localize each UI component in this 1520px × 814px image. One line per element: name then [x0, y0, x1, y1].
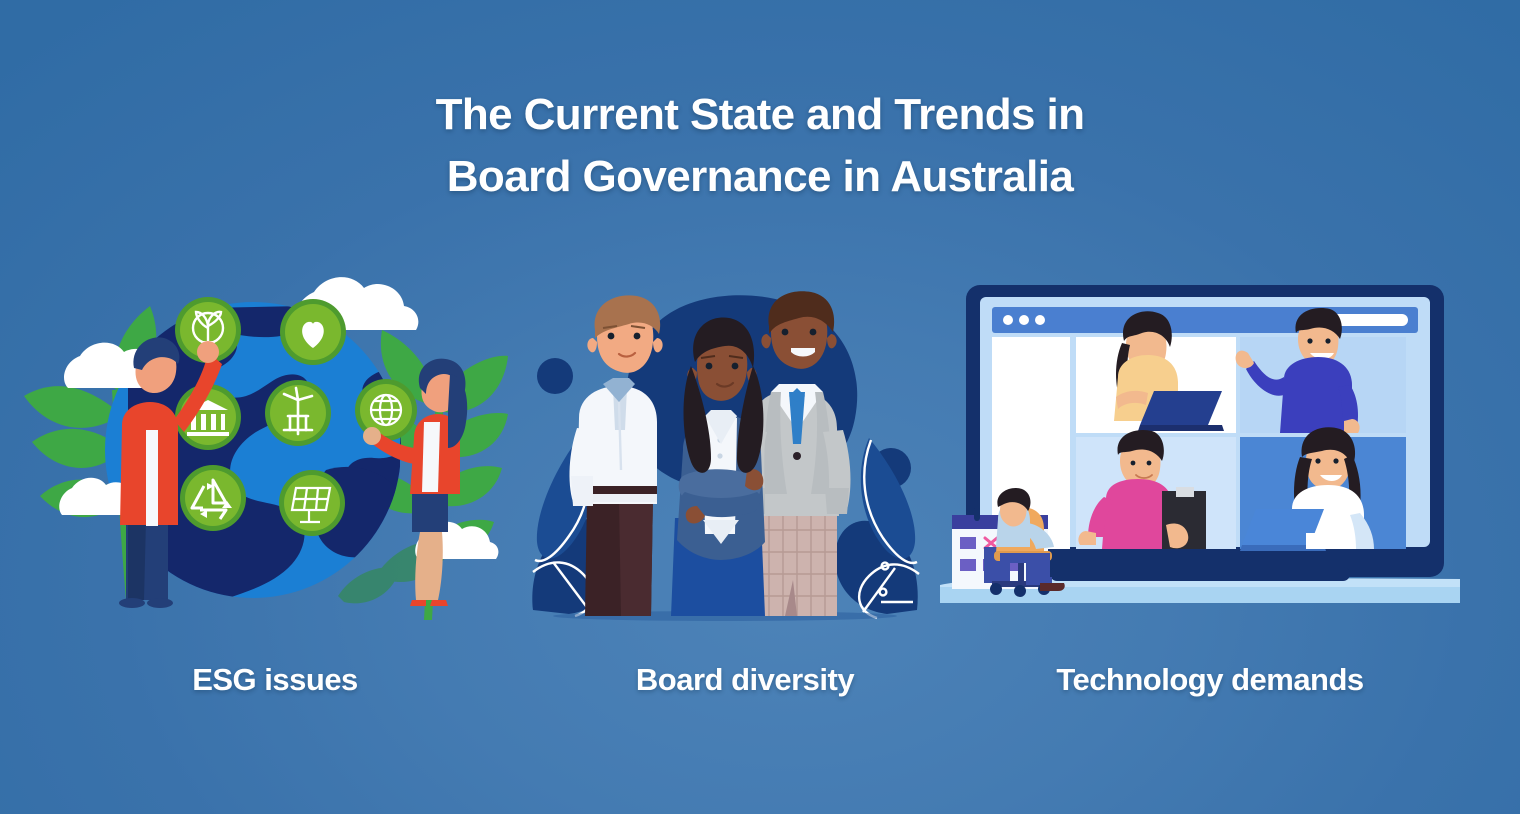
heart-icon: [280, 299, 346, 365]
window-dot-icon: [1019, 315, 1029, 325]
window-dot-icon: [1003, 315, 1013, 325]
tile-man-clipboard[interactable]: [1076, 430, 1236, 549]
tile-woman-white-top[interactable]: [1240, 427, 1406, 551]
wind-turbine-icon: [265, 380, 331, 446]
caption-diversity: Board diversity: [545, 662, 945, 698]
browser-chrome-bar[interactable]: [992, 307, 1418, 333]
infographic-canvas: The Current State and Trends in Board Go…: [0, 0, 1520, 814]
illustration-technology: [940, 285, 1460, 630]
caption-esg: ESG issues: [50, 662, 500, 698]
recycle-icon: [180, 465, 246, 531]
caption-technology: Technology demands: [960, 662, 1460, 698]
solar-panel-icon: [279, 470, 345, 536]
video-conference-ui: [992, 307, 1418, 551]
illustration-esg: [8, 270, 508, 640]
page-title: The Current State and Trends in Board Go…: [0, 84, 1520, 209]
illustration-board-diversity: [525, 280, 925, 630]
window-dot-icon: [1035, 315, 1045, 325]
